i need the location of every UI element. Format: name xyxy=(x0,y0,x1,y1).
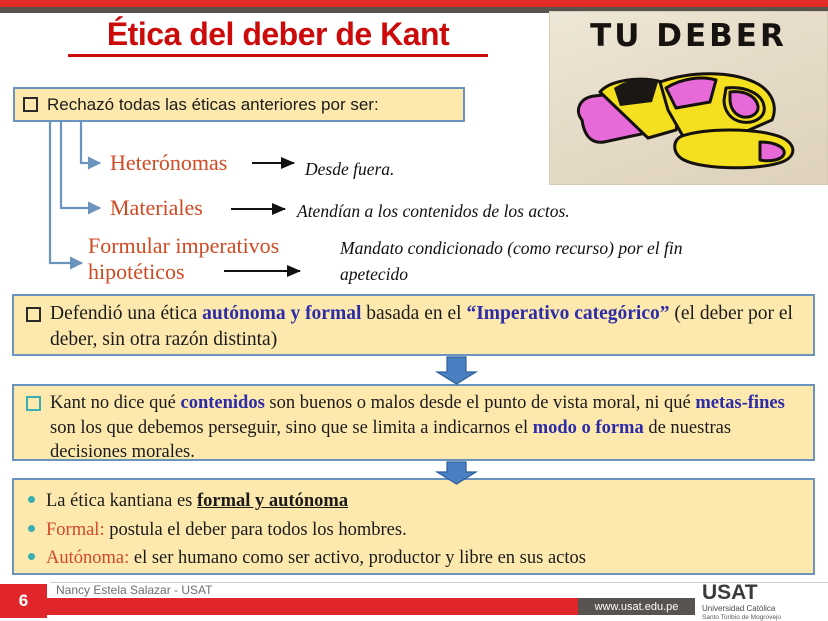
branch-label-materiales: Materiales xyxy=(110,195,203,221)
poster-caption: TU DEBER xyxy=(550,18,827,54)
pointing-fist-illustration xyxy=(564,58,814,178)
usat-logo: USAT Universidad Católica Santo Toribio … xyxy=(702,582,794,621)
box2-text: Defendió una ética autónoma y formal bas… xyxy=(50,301,803,352)
connector-branch-1 xyxy=(81,122,100,163)
box1-text: Rechazó todas las éticas anteriores por … xyxy=(47,95,379,115)
dot-bullet-icon xyxy=(28,525,35,532)
logo-subtitle-2: Santo Toribio de Mogrovejo xyxy=(702,614,794,621)
branch-label-heteronomas: Heterónomas xyxy=(110,150,227,176)
branch-detail-imperativos-line1: Mandato condicionado (como recurso) por … xyxy=(340,238,683,259)
logo-subtitle-1: Universidad Católica xyxy=(702,604,794,614)
statement-box-summary: La ética kantiana es formal y autónoma F… xyxy=(12,478,815,575)
connector-branch-3 xyxy=(50,122,82,263)
slide-canvas: Ética del deber de Kant TU DEBER Rechazó… xyxy=(0,0,828,621)
top-red-bar xyxy=(0,0,828,7)
website-url-badge[interactable]: www.usat.edu.pe xyxy=(578,598,695,615)
branch-detail-imperativos-line2: apetecido xyxy=(340,264,408,285)
footer-red-strip xyxy=(47,598,578,615)
branch-label-imperativos-line1: Formular imperativos xyxy=(88,233,279,259)
branch-label-imperativos-line2: hipotéticos xyxy=(88,259,185,285)
down-arrow-box2-box3 xyxy=(437,357,476,384)
branch-detail-materiales: Atendían a los contenidos de los actos. xyxy=(297,201,570,222)
dot-bullet-icon xyxy=(28,496,35,503)
checkbox-bullet-icon xyxy=(26,301,50,352)
logo-wordmark: USAT xyxy=(702,582,794,603)
branch-detail-heteronomas: Desde fuera. xyxy=(305,159,394,180)
tu-deber-poster-image: TU DEBER xyxy=(549,11,828,185)
author-label: Nancy Estela Salazar - USAT xyxy=(56,583,213,597)
statement-box-rejection: Rechazó todas las éticas anteriores por … xyxy=(13,87,465,122)
checkbox-bullet-teal-icon xyxy=(26,391,50,465)
page-number-badge: 6 xyxy=(0,584,47,618)
page-title: Ética del deber de Kant xyxy=(68,18,488,57)
statement-box-contenidos: Kant no dice qué contenidos son buenos o… xyxy=(12,384,815,461)
checkbox-bullet-icon xyxy=(23,97,38,112)
list-item: Formal: postula el deber para todos los … xyxy=(28,516,803,545)
dot-bullet-icon xyxy=(28,553,35,560)
list-item: La ética kantiana es formal y autónoma xyxy=(28,487,803,516)
box3-text: Kant no dice qué contenidos son buenos o… xyxy=(50,391,803,465)
list-item: Autónoma: el ser humano como ser activo,… xyxy=(28,544,803,573)
connector-branch-2 xyxy=(61,122,100,208)
statement-box-autonoma-formal: Defendió una ética autónoma y formal bas… xyxy=(12,294,815,356)
